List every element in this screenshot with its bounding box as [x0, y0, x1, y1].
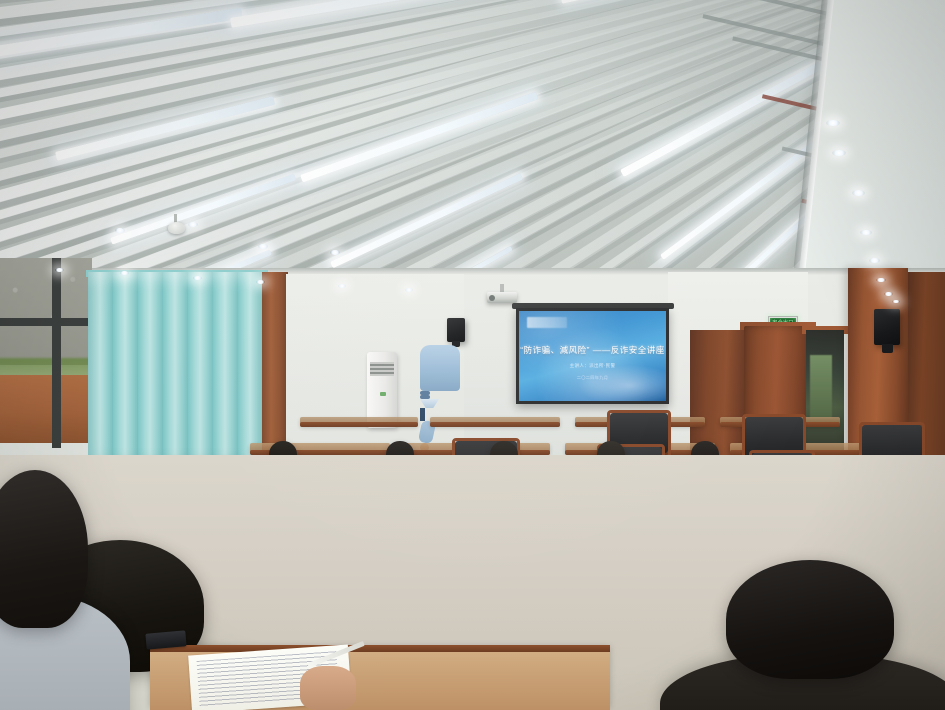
person-head	[726, 560, 894, 679]
recessed-downlight	[115, 228, 125, 233]
slide-logo	[527, 317, 567, 328]
wall-speaker-right	[874, 309, 900, 345]
recessed-downlight	[852, 190, 865, 196]
recessed-downlight	[256, 280, 265, 284]
recessed-downlight	[55, 268, 64, 272]
recessed-downlight	[869, 258, 880, 263]
projection-screen: “防诈骗、減风险” ——反诈安全讲座 主讲人：派出所·民警 二〇二四年九月	[519, 311, 666, 401]
recessed-downlight	[338, 284, 346, 288]
recessed-downlight	[860, 230, 872, 235]
window-mullion-horizontal	[0, 318, 92, 326]
air-conditioner-vent	[370, 362, 394, 376]
recessed-downlight	[876, 278, 886, 282]
recessed-downlight	[405, 288, 413, 292]
foreground-student-far-left	[0, 470, 130, 710]
desk-edge	[300, 422, 418, 427]
officer-uniform	[420, 345, 460, 391]
recessed-downlight	[826, 120, 840, 126]
recessed-downlight	[330, 250, 340, 255]
recessed-downlight	[258, 244, 268, 249]
desk-edge	[430, 422, 560, 427]
recessed-downlight	[193, 276, 202, 280]
slide-title: “防诈骗、減风险” ——反诈安全讲座	[519, 344, 666, 356]
foreground-desk-edge	[150, 645, 610, 652]
recessed-downlight	[120, 271, 129, 275]
projector-lens-icon	[489, 295, 495, 301]
recessed-downlight	[892, 300, 900, 303]
lecture-hall-photo: 安全出口 “防诈骗、減风险” ——反诈安全讲座 主讲人：派出所·民警 二〇二四年…	[0, 0, 945, 710]
recessed-downlight	[188, 222, 198, 227]
foreground-hand	[300, 666, 356, 710]
window-rock-wall	[0, 258, 92, 365]
smoke-detector-icon	[168, 222, 185, 234]
recessed-downlight	[884, 292, 893, 296]
wall-speaker-left	[447, 318, 465, 342]
slide-subtitle: 主讲人：派出所·民警	[519, 363, 666, 369]
recessed-downlight	[832, 150, 846, 156]
wall-speaker-right-bracket	[882, 344, 893, 353]
slide-date: 二〇二四年九月	[519, 375, 666, 381]
foreground-student-right	[660, 560, 945, 710]
person-head	[0, 470, 88, 628]
